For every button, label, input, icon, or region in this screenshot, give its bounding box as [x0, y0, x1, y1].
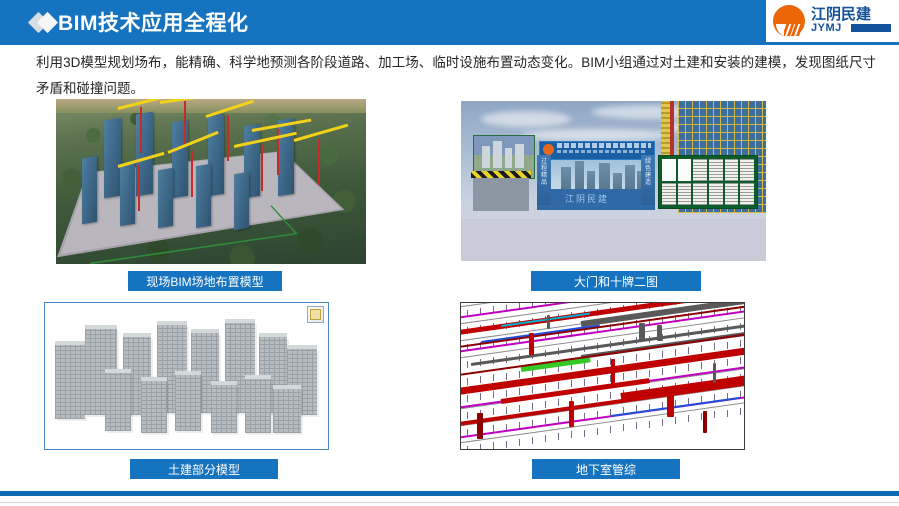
- logo-bar: [851, 24, 891, 32]
- body-paragraph: 利用3D模型规划场布，能精确、科学地预测各阶段道路、加工场、临时设施布置动态变化…: [36, 50, 876, 102]
- caption-structure-model: 土建部分模型: [130, 459, 278, 479]
- figure-site-layout: [56, 99, 366, 264]
- footer-hairline: [0, 502, 899, 503]
- diamond-icon: [31, 13, 61, 33]
- caption-site-layout: 现场BIM场地布置模型: [128, 271, 282, 291]
- logo-english-name: JYMJ: [811, 22, 842, 34]
- caption-gate-boards: 大门和十牌二图: [531, 271, 701, 291]
- caption-basement-mep: 地下室管综: [532, 459, 680, 479]
- viewcube-icon[interactable]: [307, 306, 324, 323]
- page-title: BIM技术应用全程化: [58, 7, 249, 37]
- footer-rule: [0, 491, 899, 496]
- figure-gate-boards: 江阴民建 过程精品 绿色建造: [461, 101, 766, 261]
- figure-structure-model: [44, 302, 329, 450]
- gate-sign-text: 江阴民建: [565, 192, 609, 205]
- header-rule: [0, 42, 899, 45]
- logo-chinese-name: 江阴民建: [811, 3, 871, 24]
- logo-mark-icon: [773, 5, 807, 37]
- company-logo: 江阴民建 JYMJ: [773, 3, 893, 41]
- slide: BIM技术应用全程化 江阴民建 JYMJ 利用3D模型规划场布，能精确、科学地预…: [0, 0, 899, 506]
- figure-basement-mep: [460, 302, 745, 450]
